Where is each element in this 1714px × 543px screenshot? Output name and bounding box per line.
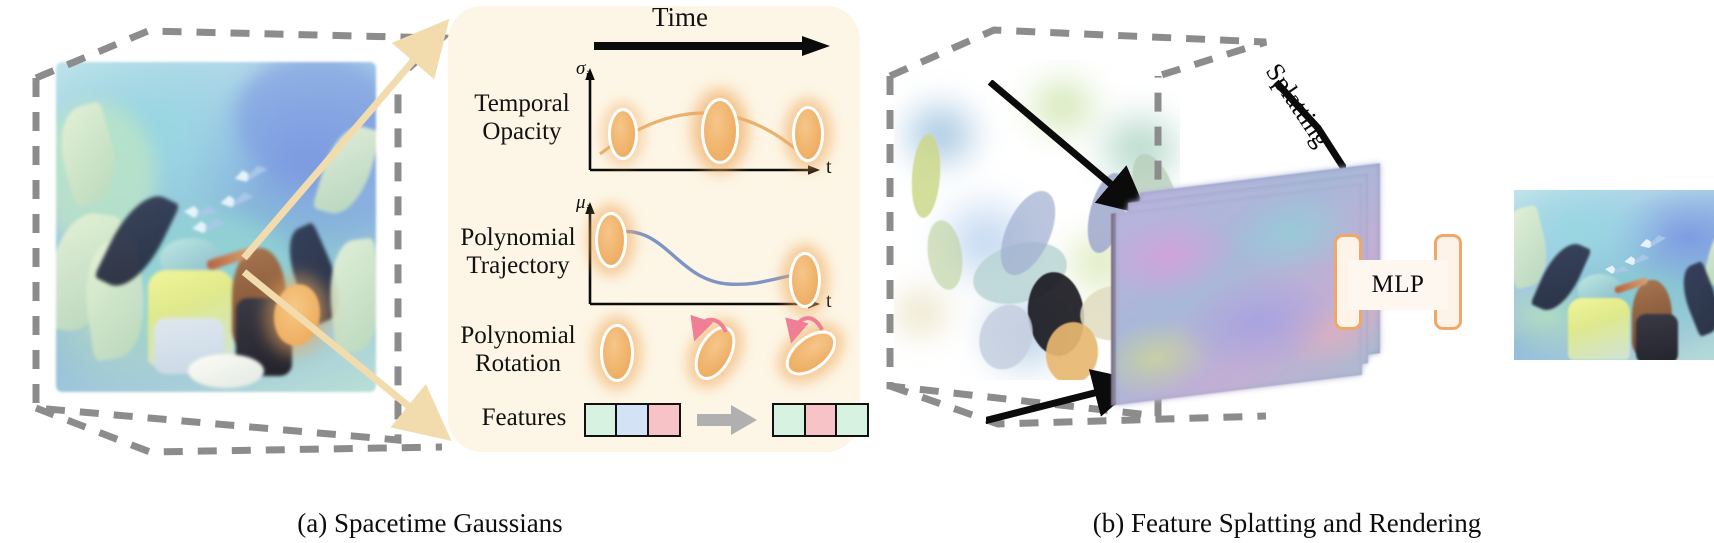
rendered-output-image <box>1514 190 1714 360</box>
mlp-block[interactable]: MLP <box>1334 234 1462 330</box>
sigma-axis-label: σi <box>576 58 589 82</box>
caption-b: (b) Feature Splatting and Rendering <box>860 508 1714 539</box>
features-label: Features <box>458 404 590 432</box>
arrow-bottom-left <box>986 386 1122 422</box>
feature-cell-in-1 <box>584 403 618 437</box>
feature-cell-in-2 <box>615 403 649 437</box>
rotation-direction-arrows <box>688 306 848 352</box>
features-vector-row <box>584 400 869 440</box>
gaussian-ellipse-medium <box>789 252 821 308</box>
rotation-gaussian-0deg <box>600 324 634 382</box>
polynomial-trajectory-label: Polynomial Trajectory <box>448 224 588 280</box>
caption-a: (a) Spacetime Gaussians <box>0 508 860 539</box>
person-body <box>1568 298 1630 360</box>
figure-root: Time Temporal Opacity σi t Polynomial Tr… <box>0 0 1714 543</box>
mu-axis-label: μi <box>576 192 589 216</box>
painter-body <box>1636 314 1678 360</box>
mlp-label: MLP <box>1348 260 1448 310</box>
gaussian-ellipse-medium <box>595 212 627 268</box>
panel-spacetime-gaussians <box>0 0 450 470</box>
gaussian-ellipse-medium <box>792 106 824 162</box>
arrow-top-left <box>990 82 1132 202</box>
panel-feature-splatting: Splatting MLP <box>866 0 1714 470</box>
features-transform-arrow <box>693 400 763 440</box>
feature-cell-out-1 <box>772 403 806 437</box>
t-axis-label-opacity: t <box>826 156 832 178</box>
polynomial-rotation-label: Polynomial Rotation <box>448 322 588 378</box>
time-axis-arrow <box>592 34 832 60</box>
time-label: Time <box>652 2 708 32</box>
panel-gaussian-attributes: Time Temporal Opacity σi t Polynomial Tr… <box>448 6 860 452</box>
gaussian-ellipse-small <box>608 108 638 160</box>
feature-map-plane-1 <box>1116 183 1362 405</box>
feature-cell-out-2 <box>804 403 838 437</box>
gaussian-ellipse-large <box>701 98 739 164</box>
feature-cell-in-3 <box>647 403 681 437</box>
feature-map-texture <box>1116 183 1362 405</box>
temporal-opacity-label: Temporal Opacity <box>456 90 588 146</box>
feature-cell-out-3 <box>835 403 869 437</box>
